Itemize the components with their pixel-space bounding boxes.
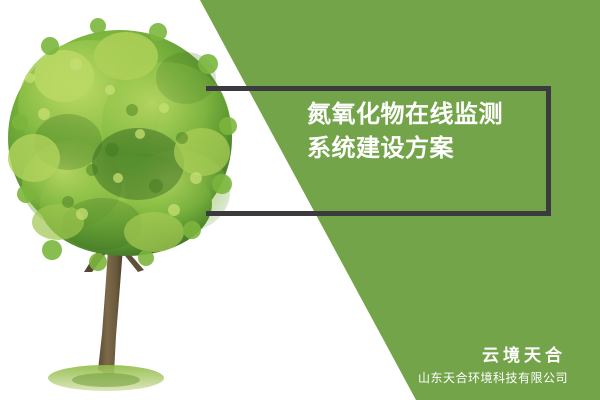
page-title: 氮氧化物在线监测 系统建设方案 — [307, 98, 557, 166]
tree-illustration — [6, 18, 274, 400]
title-slide: 氮氧化物在线监测 系统建设方案 云境天合 山东天合环境科技有限公司 — [0, 0, 600, 400]
brand-block: 云境天合 山东天合环境科技有限公司 — [418, 344, 568, 388]
brand-company-name: 山东天合环境科技有限公司 — [418, 368, 568, 388]
page-title-line-2: 系统建设方案 — [307, 132, 557, 166]
page-title-line-1: 氮氧化物在线监测 — [307, 98, 557, 132]
tree-panel — [0, 0, 430, 400]
brand-name: 云境天合 — [418, 344, 568, 368]
